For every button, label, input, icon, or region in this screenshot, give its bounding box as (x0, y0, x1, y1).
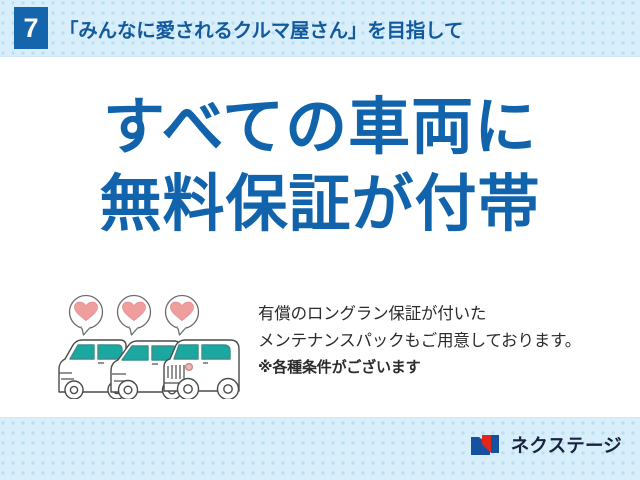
banner-header-title: 「みんなに愛されるクルマ屋さん」を目指して (59, 14, 463, 43)
content-card: すべての車両に 無料保証が付帯 (0, 56, 640, 418)
headline-line-2: 無料保証が付帯 (0, 172, 640, 239)
copy-line-2: メンテナンスパックもご用意しております。 (258, 328, 581, 355)
nextage-n-mark-icon (470, 433, 504, 457)
warranty-banner: 7 「みんなに愛されるクルマ屋さん」を目指して すべての車両に 無料保証が付帯 (0, 0, 640, 480)
car-suv (164, 340, 239, 399)
section-number-badge: 7 (14, 7, 48, 49)
copy-note: ※各種条件がございます (258, 356, 581, 380)
headline-line-1: すべての車両に (0, 95, 640, 162)
banner-header: 7 「みんなに愛されるクルマ屋さん」を目指して (0, 0, 640, 56)
banner-footer: ネクステージ (0, 418, 640, 480)
brand-logo: ネクステージ (470, 432, 622, 458)
headline: すべての車両に 無料保証が付帯 (0, 95, 640, 239)
info-row: 有償のロングラン保証が付いた メンテナンスパックもご用意しております。 ※各種条… (0, 293, 640, 403)
three-cars-with-hearts-illustration (48, 293, 254, 399)
brand-logo-text: ネクステージ (511, 432, 622, 458)
copy-block: 有償のロングラン保証が付いた メンテナンスパックもご用意しております。 ※各種条… (258, 293, 581, 380)
copy-line-1: 有償のロングラン保証が付いた (258, 301, 581, 328)
